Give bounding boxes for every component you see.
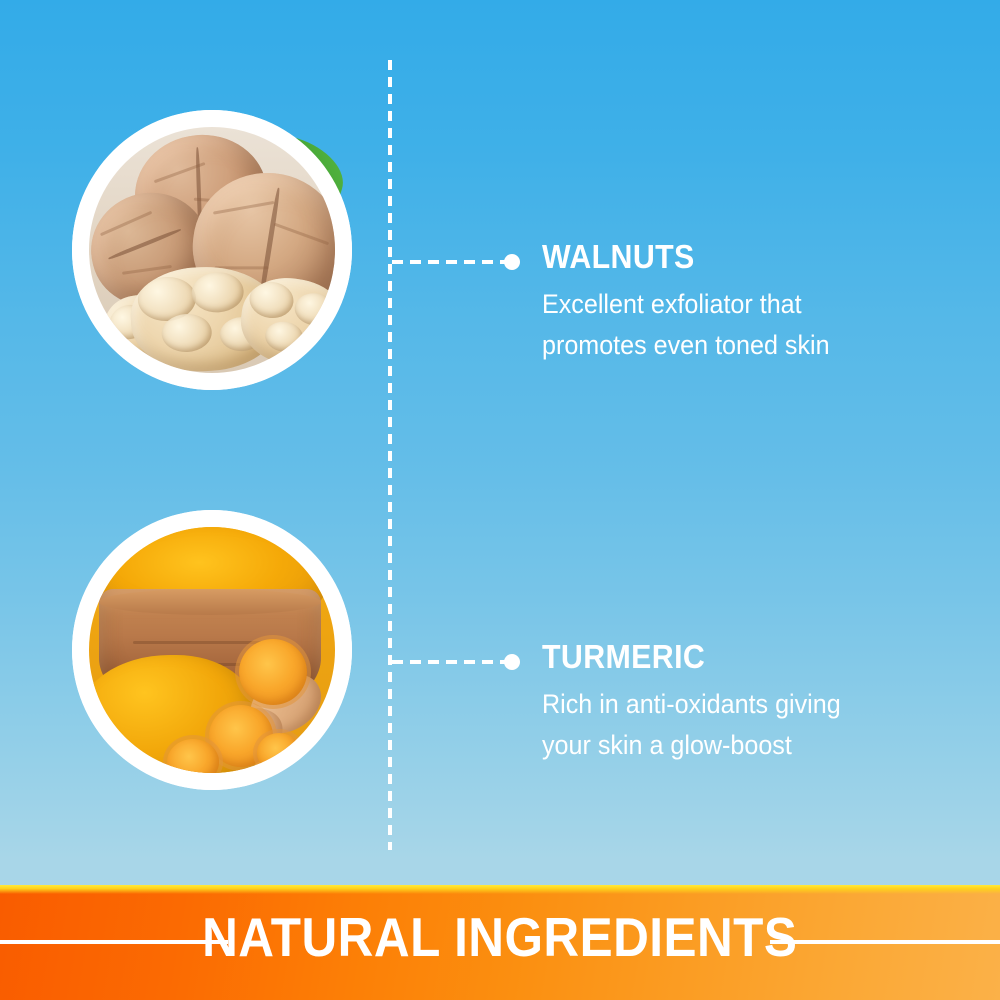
- infographic-poster: WALNUTS Excellent exfoliator that promot…: [0, 0, 1000, 1000]
- turmeric-image-badge: [72, 510, 352, 790]
- banner-title-text: NATURAL INGREDIENTS: [190, 901, 810, 973]
- banner-title: NATURAL INGREDIENTS: [0, 901, 1000, 973]
- walnuts-text-block: WALNUTS Excellent exfoliator that promot…: [542, 240, 962, 366]
- connector-dot-walnuts: [504, 254, 520, 270]
- walnut-seam: [108, 228, 182, 261]
- connector-dot-turmeric: [504, 654, 520, 670]
- banner-top-stripe: [0, 885, 1000, 894]
- walnut-wrinkle: [274, 223, 330, 246]
- turmeric-root-slice: [239, 639, 307, 705]
- connector-dashed-line-walnuts: [392, 260, 510, 264]
- turmeric-description-line-1: Rich in anti-oxidants giving: [542, 684, 933, 725]
- walnuts-description: Excellent exfoliator that promotes even …: [542, 284, 933, 366]
- turmeric-heading: TURMERIC: [542, 640, 928, 674]
- kernel-lobe: [293, 291, 335, 328]
- walnut-wrinkle: [100, 211, 152, 237]
- turmeric-text-block: TURMERIC Rich in anti-oxidants giving yo…: [542, 640, 962, 766]
- turmeric-description: Rich in anti-oxidants giving your skin a…: [542, 684, 933, 766]
- bowl-rim: [99, 589, 321, 615]
- connector-dashed-line-turmeric: [392, 660, 510, 664]
- turmeric-root-slice: [257, 733, 301, 773]
- vertical-dashed-divider: [388, 60, 392, 850]
- kernel-lobe: [191, 271, 245, 314]
- kernel-lobe: [161, 313, 213, 354]
- turmeric-description-line-2: your skin a glow-boost: [542, 725, 933, 766]
- bottom-banner: NATURAL INGREDIENTS: [0, 885, 1000, 1000]
- walnut-wrinkle: [213, 201, 275, 215]
- walnut-scene: [89, 127, 335, 373]
- turmeric-photo: [89, 527, 335, 773]
- walnuts-description-line-2: promotes even toned skin: [542, 325, 933, 366]
- walnuts-heading: WALNUTS: [542, 240, 928, 274]
- kernel-lobe: [263, 320, 304, 354]
- walnuts-photo: [89, 127, 335, 373]
- walnuts-image-badge: [72, 110, 352, 390]
- walnuts-description-line-1: Excellent exfoliator that: [542, 284, 933, 325]
- turmeric-scene: [89, 527, 335, 773]
